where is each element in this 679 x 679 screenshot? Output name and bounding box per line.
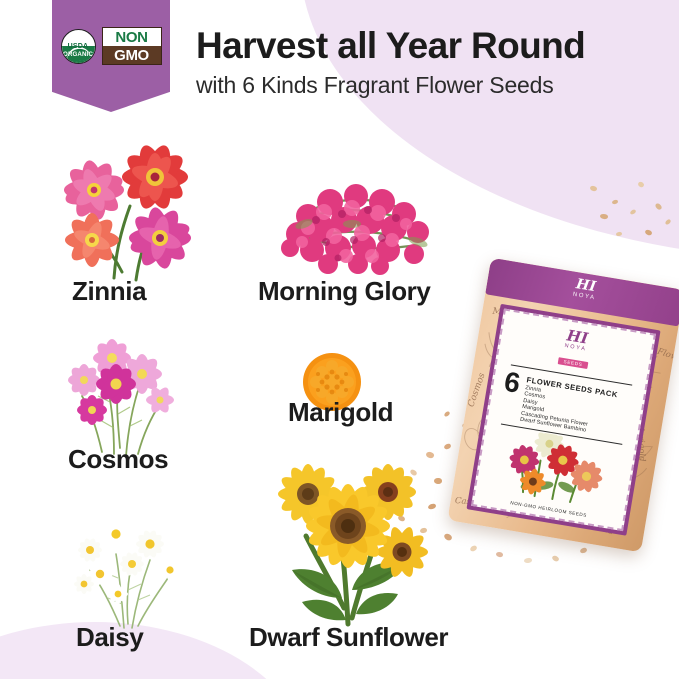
seed-speck — [469, 545, 477, 553]
flower-label-dwarf-sunflower: Dwarf Sunflower — [249, 622, 448, 653]
morning-glory-illustration — [268, 158, 448, 276]
seed-speck — [579, 547, 587, 554]
non-gmo-bottom: GMO — [103, 46, 161, 64]
seed-speck — [524, 558, 532, 564]
daisy-illustration — [62, 500, 202, 630]
badge-group: USDA ORGANIC NON GMO — [52, 0, 170, 92]
packet-body: HI NOYA Marigold Cascading Petunia Flowe… — [447, 258, 679, 553]
packet-top-brand: HI NOYA — [572, 278, 598, 303]
nongmo-badge-line2: GMO — [114, 48, 149, 63]
label-brand-logo: HI NOYA SEEDS — [558, 328, 593, 372]
flower-label-morning-glory: Morning Glory — [258, 276, 430, 307]
seed-speck — [443, 411, 450, 418]
seed-packet[interactable]: HI NOYA Marigold Cascading Petunia Flowe… — [447, 258, 679, 553]
zinnia-illustration — [52, 140, 227, 285]
nongmo-badge-line1: NON — [115, 30, 147, 45]
usda-badge-line1: USDA — [68, 42, 89, 51]
cosmos-illustration — [56, 318, 206, 458]
flower-label-zinnia: Zinnia — [72, 276, 146, 307]
seed-speck — [443, 443, 451, 450]
seed-speck — [551, 555, 560, 563]
packet-label-card: HI NOYA SEEDS 6 FLOWER SEEDS PACK Zinnia… — [471, 308, 656, 531]
packet-label-border: HI NOYA SEEDS 6 FLOWER SEEDS PACK Zinnia… — [466, 304, 660, 536]
label-seed-count: 6 — [502, 369, 522, 397]
non-gmo-top: NON — [103, 28, 161, 46]
flower-label-cosmos: Cosmos — [68, 444, 168, 475]
usda-organic-icon: USDA ORGANIC — [61, 29, 96, 64]
seed-speck — [443, 532, 453, 541]
infographic-canvas: USDA ORGANIC NON GMO Harvest all Year Ro… — [0, 0, 679, 679]
dwarf-sunflower-illustration — [252, 448, 442, 628]
certification-ribbon: USDA ORGANIC NON GMO — [52, 0, 170, 112]
flower-label-daisy: Daisy — [76, 622, 143, 653]
headline-subtitle: with 6 Kinds Fragrant Flower Seeds — [196, 70, 585, 100]
seed-speck — [495, 551, 503, 558]
headline-block: Harvest all Year Round with 6 Kinds Frag… — [196, 24, 585, 100]
non-gmo-icon: NON GMO — [102, 27, 162, 65]
label-brand-tag: SEEDS — [558, 357, 588, 369]
headline-title: Harvest all Year Round — [196, 24, 585, 68]
flower-label-marigold: Marigold — [288, 397, 393, 428]
